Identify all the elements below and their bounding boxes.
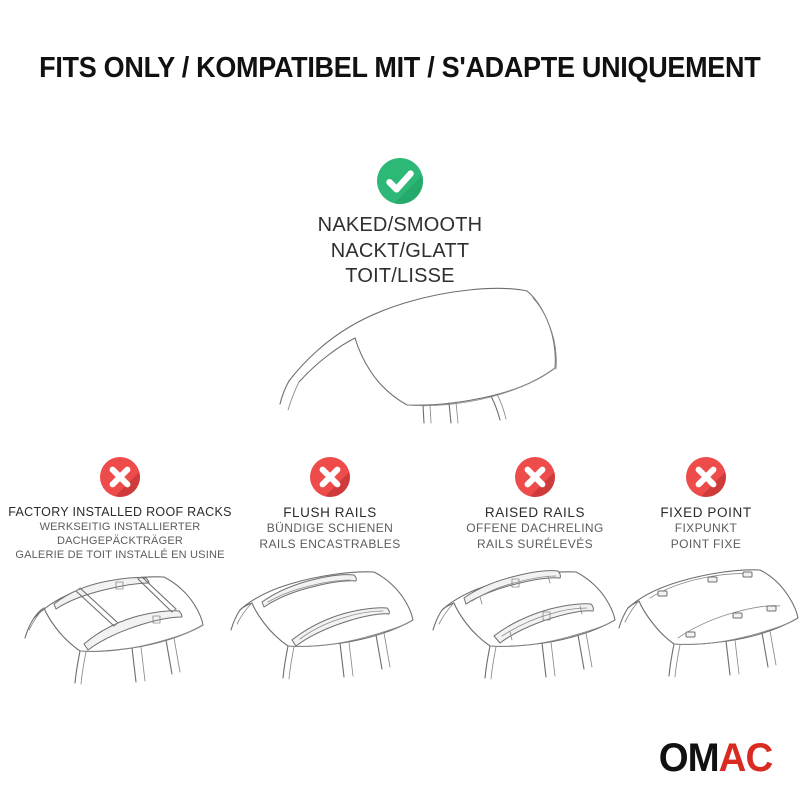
logo-text-accent: AC — [718, 736, 772, 780]
cross-circle-icon — [515, 457, 555, 497]
label-line-en: NAKED/SMOOTH — [230, 213, 570, 239]
label-line-de: BÜNDIGE SCHIENEN — [220, 521, 440, 536]
page-title-text: FITS ONLY / KOMPATIBEL MIT / S'ADAPTE UN… — [39, 52, 760, 85]
incompatible-labels: FIXED POINT FIXPUNKT POINT FIXE — [612, 504, 800, 552]
cross-circle-icon — [310, 457, 350, 497]
incompatible-labels: FLUSH RAILS BÜNDIGE SCHIENEN RAILS ENCAS… — [220, 504, 440, 552]
smooth-roof-illustration — [255, 276, 575, 426]
factory-roof-rack-illustration — [12, 552, 227, 697]
label-line-fr: POINT FIXE — [612, 537, 800, 552]
fixed-point-illustration — [612, 552, 800, 697]
label-line-en: FLUSH RAILS — [220, 504, 440, 521]
cross-circle-icon — [686, 457, 726, 497]
logo-text-dark: OM — [659, 736, 719, 780]
label-line-fr: RAILS ENCASTRABLES — [220, 537, 440, 552]
check-circle-icon — [377, 158, 423, 204]
label-line-de: NACKT/GLATT — [230, 239, 570, 265]
incompatible-option-fixed-point: FIXED POINT FIXPUNKT POINT FIXE — [612, 457, 800, 552]
incompatible-option-factory-roof-racks: FACTORY INSTALLED ROOF RACKS WERKSEITIG … — [0, 457, 240, 562]
flush-rails-illustration — [222, 552, 437, 697]
compatible-option-naked-smooth: NAKED/SMOOTH NACKT/GLATT TOIT/LISSE — [230, 158, 570, 290]
page-title: FITS ONLY / KOMPATIBEL MIT / S'ADAPTE UN… — [0, 52, 800, 85]
label-line-de: FIXPUNKT — [612, 521, 800, 536]
label-line-en: FIXED POINT — [612, 504, 800, 521]
label-line-de2: DACHGEPÄCKTRÄGER — [0, 534, 240, 548]
label-line-de1: WERKSEITIG INSTALLIERTER — [0, 520, 240, 534]
omac-logo: OMAC — [659, 738, 772, 778]
cross-circle-icon — [100, 457, 140, 497]
raised-rails-illustration — [424, 552, 639, 697]
label-line-en: FACTORY INSTALLED ROOF RACKS — [0, 504, 240, 520]
incompatible-option-flush-rails: FLUSH RAILS BÜNDIGE SCHIENEN RAILS ENCAS… — [220, 457, 440, 552]
